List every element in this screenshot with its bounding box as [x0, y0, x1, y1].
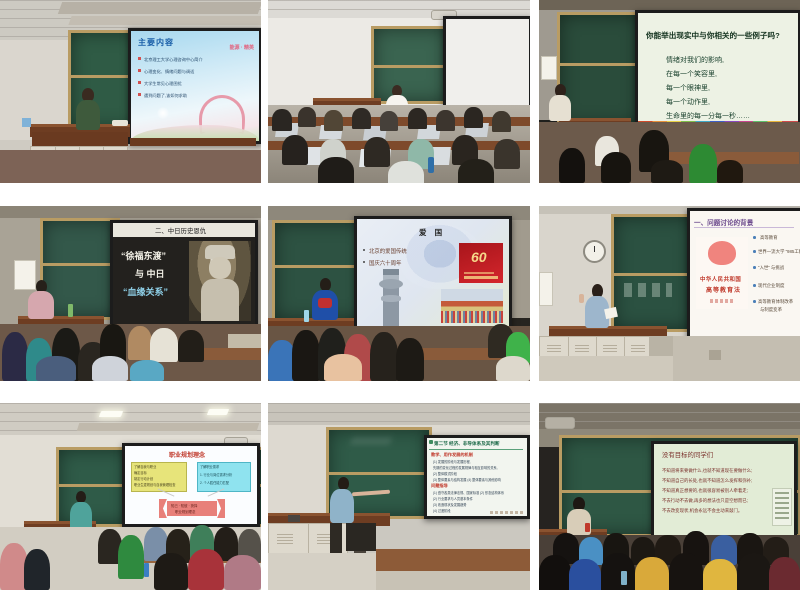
slide-title-band: 二、中日历史恩仇 — [113, 223, 255, 237]
photo-cell-3: 你能举出现实中与你相关的一些例子吗? 情绪对我们的影响, 在每一个笑容里, 每一… — [539, 0, 800, 183]
student — [717, 160, 743, 183]
headline-line: “血缘关系” — [123, 285, 168, 298]
student — [737, 553, 771, 590]
slide-title-rule — [429, 449, 523, 450]
water-bottle — [428, 157, 434, 173]
student — [388, 161, 424, 183]
desk-paper — [112, 120, 128, 126]
cover-line: 高等教育法 — [706, 285, 741, 294]
chalk-writing — [624, 283, 672, 297]
student — [154, 553, 188, 590]
bullet-marker — [363, 249, 365, 251]
ribbon-body: 知己 · 知彼 · 抉择 职业规划理念 — [167, 501, 217, 516]
parade-photo — [441, 289, 503, 323]
board-divider — [329, 472, 429, 475]
slide-bullet: 与制度变革 — [760, 307, 782, 313]
box-line: 确定目标 — [134, 470, 147, 475]
ceiling-lamp — [207, 409, 229, 415]
student — [188, 549, 224, 590]
slide-line: 不知道将来要做什么,也就不知道现在要做什么; — [662, 468, 752, 474]
photo-cell-2 — [268, 0, 530, 183]
student — [408, 108, 427, 129]
wall-poster — [541, 56, 557, 80]
cover-fine-print — [710, 299, 734, 303]
slide-line: 生命里的每一分每一秒…… — [666, 111, 750, 121]
projection-screen: 职业规划理念 了解自我与职业 确定目标 制定行动计划 职业生涯规划与自我管理检查… — [122, 443, 260, 527]
slide-corner-text: 能源 · 精英 — [230, 44, 254, 51]
slide-bullet: 现代企业制度 — [758, 283, 784, 289]
slide-bullet: 大学生常见心理困扰 — [144, 81, 182, 87]
bullet-marker — [138, 69, 141, 72]
water-bottle — [68, 304, 73, 317]
student — [272, 109, 292, 131]
slide-title: 主要内容 — [138, 37, 174, 48]
bullet-marker — [363, 261, 365, 263]
screen-bottom-bar — [130, 138, 256, 146]
tv-tower-graphic — [383, 269, 399, 327]
student — [380, 111, 398, 131]
student — [36, 356, 76, 381]
box-line: 了解自我与职业 — [134, 464, 156, 469]
ceiling-beam — [58, 2, 261, 14]
box-line: 2. 个人胜任能力匹配 — [200, 480, 229, 485]
photo-cell-8: 第二节 经济、非导体系及其判断 教学、用作发展的机制 (1) 发展的阶段与发展历… — [268, 403, 530, 590]
slide-5: 爱 国 北京的爱国传统 国庆六十周年 60 — [357, 219, 509, 329]
water-bottle — [585, 523, 590, 532]
slide-title: 二、中日历史恩仇 — [155, 226, 206, 235]
instructor-body — [28, 291, 54, 319]
student — [282, 135, 308, 165]
photo-cell-1: 主要内容 能源 · 精英 北京理工大学心理咨询中心简介 心理变化、情绪问题与调适… — [0, 0, 261, 183]
photo-3-image: 你能举出现实中与你相关的一些例子吗? 情绪对我们的影响, 在每一个笑容里, 每一… — [539, 0, 800, 183]
photo-cell-5: 爱 国 北京的爱国传统 国庆六十周年 60 — [268, 206, 530, 381]
desk-object — [22, 118, 31, 127]
slide-side-panel — [772, 488, 792, 526]
student — [669, 553, 703, 590]
logo-underline-2 — [464, 272, 494, 274]
slide-3: 你能举出现实中与你相关的一些例子吗? 情绪对我们的影响, 在每一个笑容里, 每一… — [638, 13, 798, 135]
ceiling-beam — [77, 423, 260, 431]
wall-poster — [14, 260, 36, 290]
bullet-marker — [138, 81, 141, 84]
parade-crowd — [441, 311, 503, 323]
slide-bullet: 北京的爱国传统 — [369, 247, 407, 255]
slide-line: 不去改变现状,机会永远不会主动来敲门。 — [662, 508, 742, 514]
photo-4-image: 二、中日历史恩仇 “徐福东渡” 与 中日 “血缘关系” — [0, 206, 261, 381]
student — [496, 356, 530, 381]
slide-line: (1) 遵守各类法律法规、国家标准 (2) 形态结构体系 — [433, 490, 504, 495]
student — [494, 139, 520, 169]
logo-underline — [464, 276, 498, 279]
projection-screen: 二、中日历史恩仇 “徐福东渡” 与 中日 “血缘关系” — [110, 220, 258, 330]
slide-8: 第二节 经济、非导体系及其判断 教学、用作发展的机制 (1) 发展的阶段与发展历… — [427, 438, 527, 516]
student — [318, 157, 354, 183]
floor — [0, 150, 261, 183]
student — [352, 108, 371, 129]
water-bottle — [304, 310, 309, 322]
student — [2, 332, 28, 381]
anniversary-logo: 60 — [459, 243, 503, 283]
slide-7: 职业规划理念 了解自我与职业 确定目标 制定行动计划 职业生涯规划与自我管理检查… — [125, 446, 257, 524]
desk-row — [376, 549, 530, 571]
projector — [545, 417, 575, 429]
student — [651, 160, 683, 183]
student — [370, 332, 398, 381]
box-line: 制定行动计划 — [134, 476, 153, 481]
water-bottle — [621, 571, 627, 585]
slide-subhead: 问题指导 — [431, 483, 448, 489]
tower-disc — [379, 279, 403, 289]
student — [396, 338, 424, 381]
shirt-graphic — [318, 298, 332, 308]
board-glare — [350, 438, 391, 444]
ceiling — [0, 403, 261, 439]
bullet-marker — [138, 57, 141, 60]
banner-line: 知己 · 知彼 · 抉择 — [171, 503, 197, 508]
slide-bullet: 遇到问题了,该如何求助 — [144, 93, 187, 99]
logo-badge-text: 60 — [471, 249, 487, 265]
box-line: 1. 行业与岗位需求分析 — [200, 472, 232, 477]
student — [150, 328, 178, 362]
wall-lower — [673, 336, 800, 381]
photo-7-image: 职业规划理念 了解自我与职业 确定目标 制定行动计划 职业生涯规划与自我管理检查… — [0, 403, 261, 590]
student — [601, 152, 631, 183]
slide-9: 没有目标的同学们 不知道将来要做什么,也就不知道现在要做什么; 不知道自己的长处… — [654, 444, 794, 542]
slide-line: 不知道自己的长处,也就不知道怎么发挥和弥补; — [662, 478, 752, 484]
student — [130, 360, 164, 381]
ceiling-beam-2 — [68, 16, 261, 25]
student — [24, 549, 50, 590]
photo-6-image: 一、问题讨论的背景 中华人民共和国 高等教育法 高等教育 世界一流大学 “985… — [539, 206, 800, 381]
instructor-body — [76, 100, 100, 130]
projection-screen: 一、问题讨论的背景 中华人民共和国 高等教育法 高等教育 世界一流大学 “985… — [687, 208, 800, 342]
bullet-marker — [753, 236, 756, 239]
student — [298, 107, 316, 127]
projection-screen: 主要内容 能源 · 精英 北京理工大学心理咨询中心简介 心理变化、情绪问题与调适… — [128, 28, 261, 144]
slide-title-rule — [694, 227, 794, 228]
slide-line: (2) 整体模式阶段 — [433, 471, 457, 476]
student — [601, 553, 635, 590]
monitor — [346, 523, 376, 551]
student — [364, 137, 390, 167]
slide-title: 一、问题讨论的背景 — [694, 217, 753, 227]
student — [92, 356, 128, 381]
slide-title: 没有目标的同学们 — [662, 450, 713, 459]
instructor-body — [549, 95, 571, 121]
board-divider — [59, 484, 129, 487]
slide-bullet: 北京理工大学心理咨询中心简介 — [144, 57, 203, 63]
slide-bullet-icon — [429, 440, 433, 444]
tower-disc-2 — [381, 295, 401, 302]
slide-4: 二、中日历史恩仇 “徐福东渡” 与 中日 “血缘关系” — [113, 223, 255, 327]
slide-subhead: 教学、用作发展的机制 — [431, 452, 473, 458]
projection-screen — [443, 16, 530, 108]
instructor-body — [330, 489, 354, 523]
wall-outlet — [709, 350, 721, 360]
student-seating-area — [268, 105, 530, 183]
student — [492, 111, 511, 132]
bullet-marker — [138, 93, 141, 96]
bullet-marker — [753, 266, 756, 269]
slide-line: (3) 整体要素与结构发展 (4) 整体要素与其他影响 — [433, 477, 501, 482]
slide-line: (1) 发展的阶段与发展历程, — [433, 459, 471, 464]
chalkboard — [371, 26, 449, 104]
slide-line: (3) 改造现状及发展趋势 — [433, 502, 466, 507]
projection-screen: 你能举出现实中与你相关的一些例子吗? 情绪对我们的影响, 在每一个笑容里, 每一… — [635, 10, 800, 138]
board-divider — [614, 273, 692, 276]
student — [436, 110, 455, 131]
slide-line: (2) 行业要求与人员基本条件 — [433, 496, 473, 501]
slide-line: 每一个眼神里, — [666, 83, 710, 93]
slide-line: 每一个动作里, — [666, 97, 710, 107]
desk-device — [288, 515, 300, 522]
projection-screen: 第二节 经济、非导体系及其判断 教学、用作发展的机制 (1) 发展的阶段与发展历… — [424, 435, 530, 519]
bench-row — [376, 571, 530, 590]
board-divider — [43, 263, 117, 266]
photo-grid: 主要内容 能源 · 精英 北京理工大学心理咨询中心简介 心理变化、情绪问题与调适… — [0, 0, 800, 590]
portrait-robe — [201, 279, 239, 321]
law-book-cover: 中华人民共和国 高等教育法 — [696, 237, 748, 309]
photo-1-image: 主要内容 能源 · 精英 北京理工大学心理咨询中心简介 心理变化、情绪问题与调适… — [0, 0, 261, 183]
chalkboard — [611, 214, 695, 332]
student — [703, 559, 737, 590]
slide-bullet: 国庆六十周年 — [369, 259, 401, 267]
slide-2 — [446, 19, 529, 105]
water-bottle — [144, 563, 149, 577]
student — [128, 326, 152, 360]
box-line: 了解职业需求 — [200, 464, 219, 469]
ceiling-lamp — [99, 411, 123, 417]
headline-line: 与 中日 — [135, 267, 165, 280]
photo-2-image — [268, 0, 530, 183]
student — [178, 330, 204, 362]
student — [464, 107, 483, 128]
slide-question-title: 你能举出现实中与你相关的一些例子吗? — [646, 30, 780, 41]
photo-8-image: 第二节 经济、非导体系及其判断 教学、用作发展的机制 (1) 发展的阶段与发展历… — [268, 403, 530, 590]
wall-poster — [539, 272, 553, 306]
slide-line: 在每一个笑容里, — [666, 69, 717, 79]
headline-line: “徐福东渡” — [121, 249, 166, 262]
wall-clock — [583, 240, 606, 263]
bullet-marker — [753, 250, 756, 253]
desk-row — [228, 334, 261, 348]
chalkboard — [56, 447, 132, 527]
slide-title: 第二节 经济、非导体系及其判断 — [434, 441, 500, 447]
student — [539, 555, 571, 590]
photo-cell-4: 二、中日历史恩仇 “徐福东渡” 与 中日 “血缘关系” — [0, 206, 261, 381]
box-line: 职业生涯规划与自我管理检查 — [134, 482, 175, 487]
photo-cell-7: 职业规划理念 了解自我与职业 确定目标 制定行动计划 职业生涯规划与自我管理检查… — [0, 403, 261, 590]
red-seal-circle — [708, 241, 736, 265]
slide-line: 不去行动不去做,再多的想法也只是空想而已; — [662, 498, 748, 504]
student — [324, 354, 362, 381]
dandelion-graphic — [157, 107, 169, 119]
slide-title: 爱 国 — [419, 227, 445, 238]
slide-6: 一、问题讨论的背景 中华人民共和国 高等教育法 高等教育 世界一流大学 “985… — [690, 211, 800, 339]
slide-title: 职业规划理念 — [169, 450, 205, 459]
bullet-marker — [753, 284, 756, 287]
student — [769, 557, 800, 590]
slide-bullet: 世界一流大学 “985工程” — [758, 249, 800, 255]
cover-line: 中华人民共和国 — [700, 275, 741, 283]
projection-screen: 没有目标的同学们 不知道将来要做什么,也就不知道现在要做什么; 不知道自己的长处… — [651, 441, 797, 545]
photo-5-image: 爱 国 北京的爱国传统 国庆六十周年 60 — [268, 206, 530, 381]
slide-bullet: “入世” 与挑战 — [758, 265, 784, 271]
student — [569, 559, 601, 590]
left-box: 了解自我与职业 确定目标 制定行动计划 职业生涯规划与自我管理检查 — [131, 462, 187, 492]
student — [118, 535, 144, 579]
slide-1: 主要内容 能源 · 精英 北京理工大学心理咨询中心简介 心理变化、情绪问题与调适… — [131, 31, 259, 141]
slide-line: 不知道真正想要的,也就很容易被别人牵着走; — [662, 488, 748, 494]
instructor-hand — [579, 294, 584, 303]
portrait-graphic — [189, 241, 251, 321]
photo-cell-9: 没有目标的同学们 不知道将来要做什么,也就不知道现在要做什么; 不知道自己的长处… — [539, 403, 800, 590]
portrait-face — [209, 257, 231, 279]
banner-line: 职业规划理念 — [175, 509, 195, 514]
slide-footer-note — [490, 511, 524, 514]
board-divider — [560, 63, 640, 66]
board-divider — [374, 65, 446, 68]
bullet-marker — [753, 300, 756, 303]
student — [292, 330, 320, 381]
student — [559, 148, 585, 183]
slide-bullet: 高等教育 — [760, 235, 778, 241]
student — [458, 159, 494, 183]
slide-line: 情绪对我们的影响, — [666, 55, 724, 65]
slide-line: 先期的变化过程的发展规律与相互影响的关系, — [433, 465, 498, 470]
student — [224, 555, 261, 590]
slide-line: (4) 过渡阶段 — [433, 508, 451, 513]
student — [635, 557, 669, 590]
photo-cell-6: 一、问题讨论的背景 中华人民共和国 高等教育法 高等教育 世界一流大学 “985… — [539, 206, 800, 381]
slide-bullet: 高等教育体制改革 — [758, 299, 793, 305]
slide-bullet: 心理变化、情绪问题与调适 — [144, 69, 194, 75]
student — [689, 144, 717, 183]
student — [324, 110, 343, 131]
photo-9-image: 没有目标的同学们 不知道将来要做什么,也就不知道现在要做什么; 不知道自己的长处… — [539, 403, 800, 590]
projection-screen: 爱 国 北京的爱国传统 国庆六十周年 60 — [354, 216, 512, 332]
